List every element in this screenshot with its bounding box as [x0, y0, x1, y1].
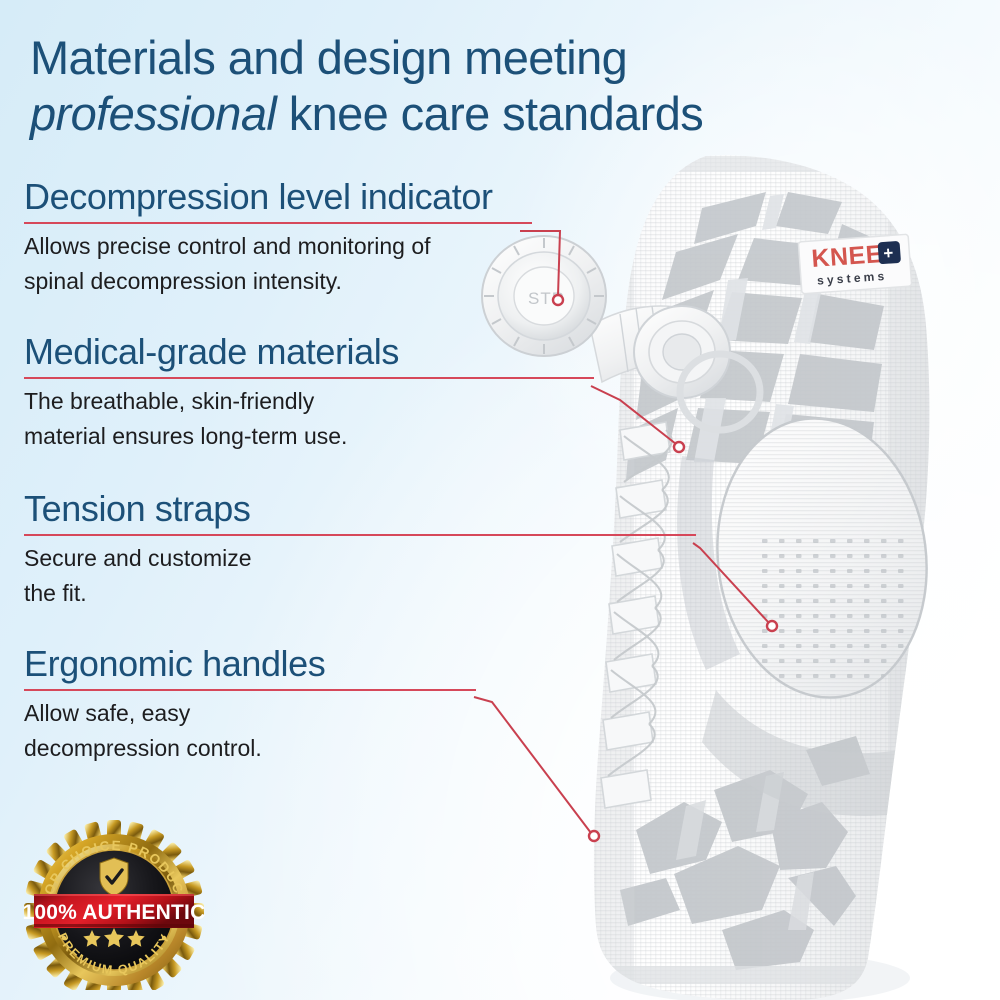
- title-line-2: professional knee care standards: [30, 86, 860, 142]
- feature-body: Secure and customize the fit.: [24, 541, 624, 611]
- badge-banner: 100% AUTHENTIC: [23, 894, 206, 928]
- svg-text:+: +: [883, 243, 894, 263]
- feature-block-medical-grade-materials: Medical-grade materials The breathable, …: [24, 331, 624, 454]
- feature-heading: Medical-grade materials: [24, 331, 624, 373]
- feature-block-tension-straps: Tension straps Secure and customize the …: [24, 488, 624, 611]
- title-line-1: Materials and design meeting: [30, 30, 860, 86]
- svg-text:KNEE: KNEE: [811, 240, 884, 273]
- feature-heading: Decompression level indicator: [24, 176, 624, 218]
- feature-heading: Ergonomic handles: [24, 643, 624, 685]
- feature-divider: [24, 377, 594, 379]
- page-title: Materials and design meeting professiona…: [30, 30, 860, 142]
- brand-label-patch: KNEE + systems: [798, 234, 911, 294]
- feature-block-decompression-level-indicator: Decompression level indicator Allows pre…: [24, 176, 624, 299]
- feature-block-ergonomic-handles: Ergonomic handles Allow safe, easy decom…: [24, 643, 624, 766]
- feature-body: Allow safe, easy decompression control.: [24, 696, 624, 766]
- title-line-2-rest: knee care standards: [276, 87, 703, 140]
- feature-body: The breathable, skin-friendly material e…: [24, 384, 624, 454]
- infographic-canvas: KNEE + systems: [0, 0, 1000, 1000]
- feature-heading: Tension straps: [24, 488, 624, 530]
- feature-body: Allows precise control and monitoring of…: [24, 229, 624, 299]
- badge-banner-text: 100% AUTHENTIC: [23, 901, 206, 924]
- feature-divider: [24, 689, 476, 691]
- feature-divider: [24, 222, 532, 224]
- title-emphasis: professional: [30, 87, 276, 140]
- authenticity-badge: TOP CHOICE PRODUCT PREMIUM QUALITY: [20, 818, 208, 990]
- feature-divider: [24, 534, 696, 536]
